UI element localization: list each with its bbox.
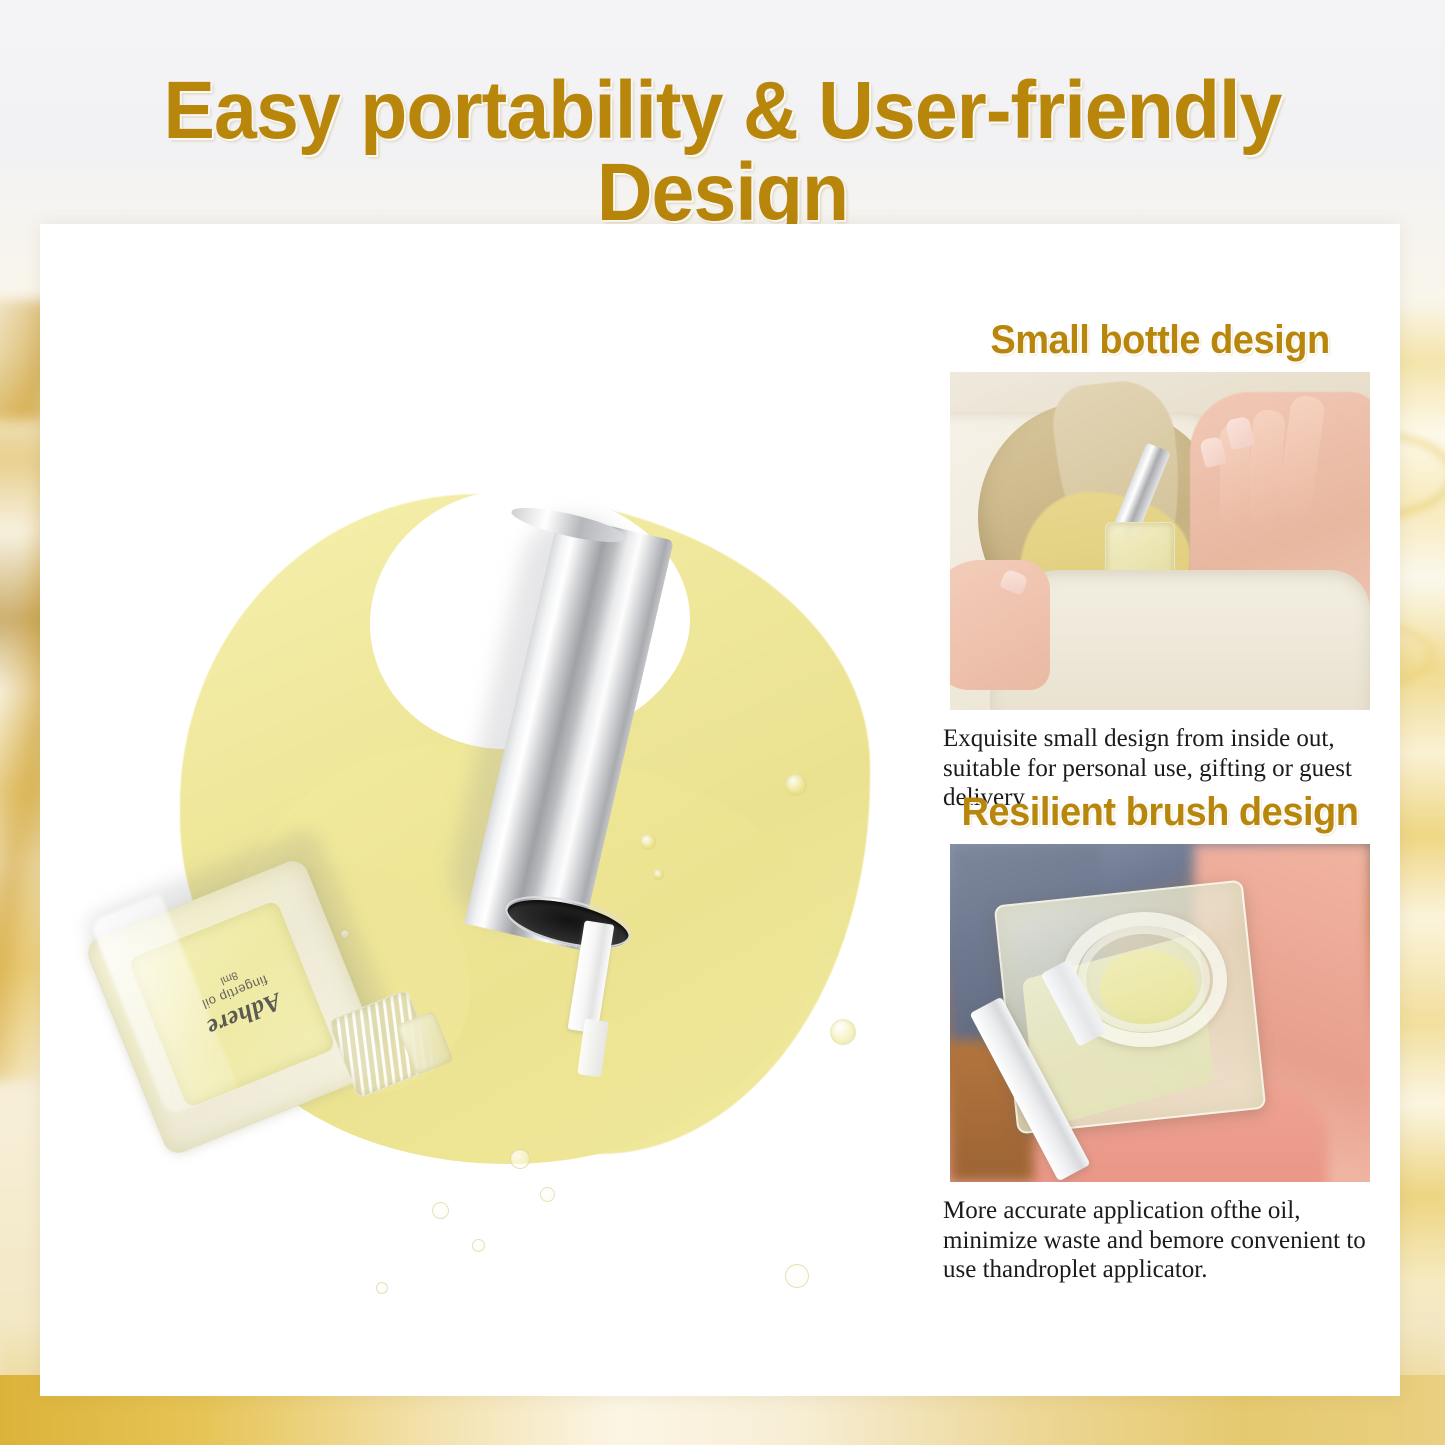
oil-droplet [830, 1019, 856, 1045]
page-title: Easy portability & User-friendly Design [43, 70, 1401, 234]
oil-bubble [785, 1264, 809, 1288]
bottle-cap-with-brush [480, 504, 740, 1074]
hero-product-image: Adhere fingertip oil 8ml [40, 224, 920, 1396]
oil-bubble [376, 1282, 388, 1294]
oil-bubble [472, 1239, 485, 1252]
oil-bubble [510, 1149, 530, 1169]
oil-bubble [432, 1202, 449, 1219]
feature-heading: Small bottle design [932, 320, 1388, 360]
feature-small-bottle-design: Small bottle design Exquisite small [920, 320, 1400, 813]
product-bottle: Adhere fingertip oil 8ml [100, 854, 460, 1184]
feature-photo-small-bottle [950, 372, 1370, 710]
left-hand [950, 560, 1050, 690]
content-card: Adhere fingertip oil 8ml Small bottle de… [40, 224, 1400, 1396]
oil-droplet [785, 774, 807, 796]
feature-caption: More accurate application ofthe oil, min… [940, 1196, 1380, 1285]
oil-bubble [540, 1187, 555, 1202]
feature-photo-brush [950, 844, 1370, 1182]
feature-resilient-brush-design: Resilient brush design More accurate app… [920, 792, 1400, 1285]
feature-column: Small bottle design Exquisite small [920, 224, 1400, 1396]
feature-heading: Resilient brush design [932, 792, 1388, 832]
